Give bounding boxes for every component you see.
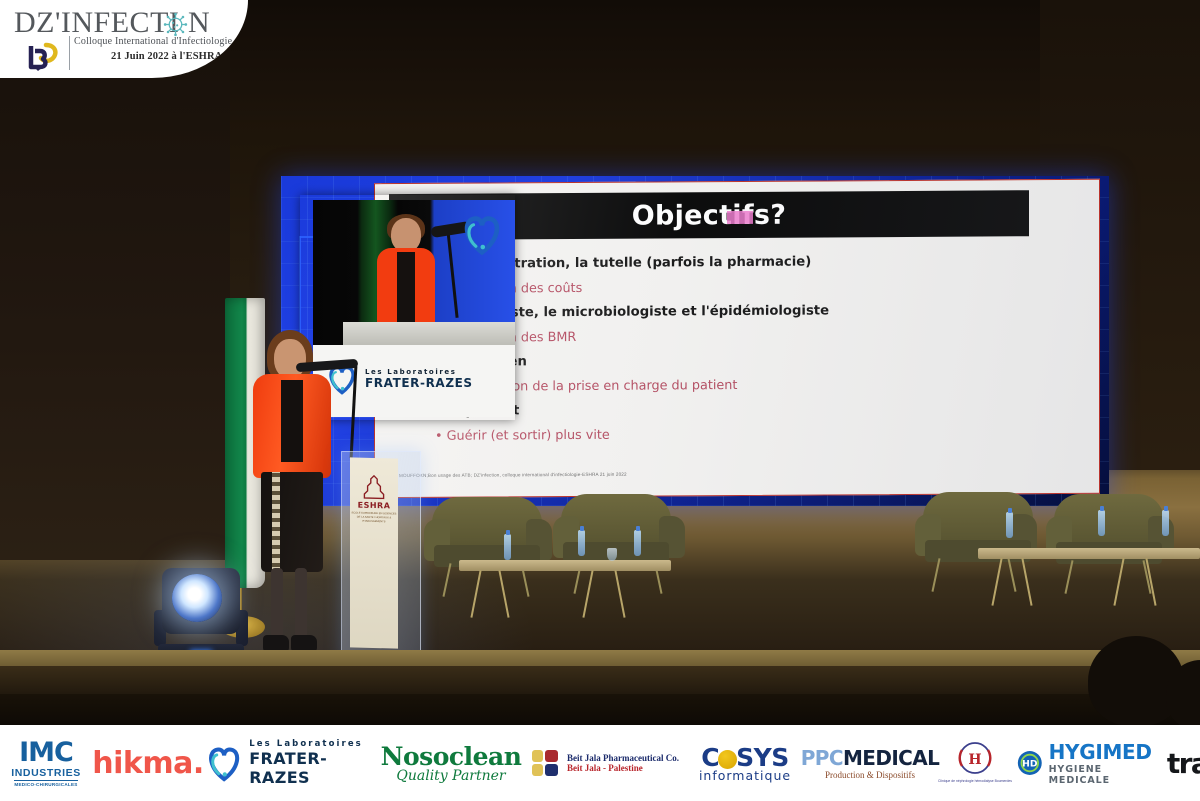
lectern-podium: ESHRA ECOLE SUPERIEURE EN SCIENCES DE LA… [341, 451, 421, 663]
speaker-black-top [281, 380, 303, 462]
speaker-presenter [243, 330, 353, 670]
nosoclean-tagline: Quality Partner [396, 768, 505, 784]
virus-icon [163, 12, 188, 37]
sponsor-imc-industries[interactable]: IMC INDUSTRIES MEDICO-CHIRURGICALES [0, 725, 92, 801]
sponsor-beit-jala[interactable]: Beit Jala Pharmaceutical Co. Beit Jala -… [526, 725, 684, 801]
ppc-logo-text: PPCPPCMEDICALMEDICAL [801, 746, 940, 770]
speaker-skirt [261, 472, 323, 572]
event-logo-title: DZ'INFECTI [14, 6, 179, 40]
heart-logo-icon [204, 742, 244, 784]
hall-wall-left [0, 0, 230, 560]
svg-text:HD: HD [1022, 759, 1038, 770]
stage-table-right [978, 548, 1200, 608]
frater-line1: Les Laboratoires [249, 739, 376, 749]
hygimed-tagline: HYGIENE MEDICALE [1049, 764, 1158, 786]
event-logo-title-end: N [188, 6, 210, 40]
event-date: 21 Juin 2022 à l'ESHRA [111, 51, 222, 62]
sponsor-trackio[interactable]: tracki @ trackio [1158, 725, 1200, 801]
sponsor-cosys-informatique[interactable]: CC SYSSYS informatique [684, 725, 806, 801]
eshra-emblem-icon [362, 474, 386, 501]
water-bottle [1162, 510, 1169, 536]
hygimed-badge-icon: HD [1016, 748, 1044, 778]
pip-lectern [343, 322, 515, 345]
house-floor [0, 694, 1200, 725]
pip-microphone-stand [446, 230, 458, 318]
imc-tagline: MEDICO-CHIRURGICALES [14, 780, 77, 787]
sponsor-ppc-medical[interactable]: PPCPPCMEDICALMEDICAL Production & Dispos… [806, 725, 934, 801]
sponsor-hygimed[interactable]: HD HYGIMED HYGIENE MEDICALE [1016, 725, 1158, 801]
sponsor-footer-bar: IMC INDUSTRIES MEDICO-CHIRURGICALES hikm… [0, 725, 1200, 801]
sponsor-hikma[interactable]: hikma. [92, 725, 204, 801]
slide-title: Objectifs? [632, 199, 787, 231]
speaker-leg-right [295, 568, 307, 638]
water-bottle [634, 530, 641, 556]
pink-highlight-artifact [727, 211, 753, 224]
sponsor-clinique-nephrologie[interactable]: H Clinique de néphrologie hémodialyse Bo… [934, 725, 1016, 801]
podium-subtitle: ECOLE SUPERIEURE EN SCIENCES DE LA SANTE… [350, 511, 398, 524]
water-bottle [504, 534, 511, 560]
stage-table-left [459, 560, 671, 620]
stage-front-panel [0, 666, 1200, 696]
trackio-logo-text: tracki @ trackio [1167, 747, 1200, 780]
event-subtitle: Colloque International d'Infectiologie [74, 36, 232, 47]
clinique-tagline: Clinique de néphrologie hémodialyse Boum… [938, 779, 1012, 784]
stage-light-lens [172, 574, 222, 622]
hikma-logo-text: hikma. [92, 746, 204, 781]
pip-video-feed [313, 200, 515, 345]
water-bottle [578, 530, 585, 556]
pip-speaker-head [391, 218, 421, 252]
imc-industries-label: INDUSTRIES [11, 767, 81, 779]
frater-line2: FRATER-RAZES [249, 749, 376, 787]
speaker-leg-left [271, 568, 283, 638]
nosoclean-logo-text: Nosoclean [381, 742, 522, 771]
sponsor-frater-razes[interactable]: Les Laboratoires FRATER-RAZES [204, 725, 376, 801]
heart-logo-icon [459, 212, 505, 256]
water-bottle [1098, 510, 1105, 536]
b-emblem-icon [22, 42, 62, 72]
podium-word: ESHRA [358, 501, 391, 511]
clinique-crest-icon: H [952, 741, 998, 777]
pip-speaker-top [397, 252, 415, 322]
pip-brand-line1: Les Laboratoires [365, 368, 473, 376]
pip-brand-line2: FRATER-RAZES [365, 376, 473, 390]
imc-logo-text: IMC [19, 739, 73, 766]
logo-divider [69, 36, 70, 70]
conference-stage-photo: Objectifs? – Pour l'administration, la t… [0, 0, 1200, 725]
ppc-tagline: Production & Dispositifs [825, 770, 915, 780]
sponsor-nosoclean[interactable]: Nosoclean Quality Partner [376, 725, 526, 801]
svg-text:H: H [968, 752, 981, 768]
beit-jala-mark-icon [531, 746, 561, 780]
hygimed-logo-text: HYGIMED [1049, 740, 1158, 764]
podium-branding-panel: ESHRA ECOLE SUPERIEURE EN SCIENCES DE LA… [350, 457, 398, 648]
beit-jala-line2: Beit Jala - Palestine [567, 763, 679, 773]
water-bottle [1006, 512, 1013, 538]
beit-jala-line1: Beit Jala Pharmaceutical Co. [567, 753, 679, 763]
slide-footer-citation: MOUFFOKN;Bon usage des ATB; DZ'infection… [399, 472, 627, 478]
speaker-head [274, 339, 306, 379]
drinking-glass [607, 548, 617, 561]
slide-bullet-8: • Guérir (et sortir) plus vite [435, 428, 610, 444]
